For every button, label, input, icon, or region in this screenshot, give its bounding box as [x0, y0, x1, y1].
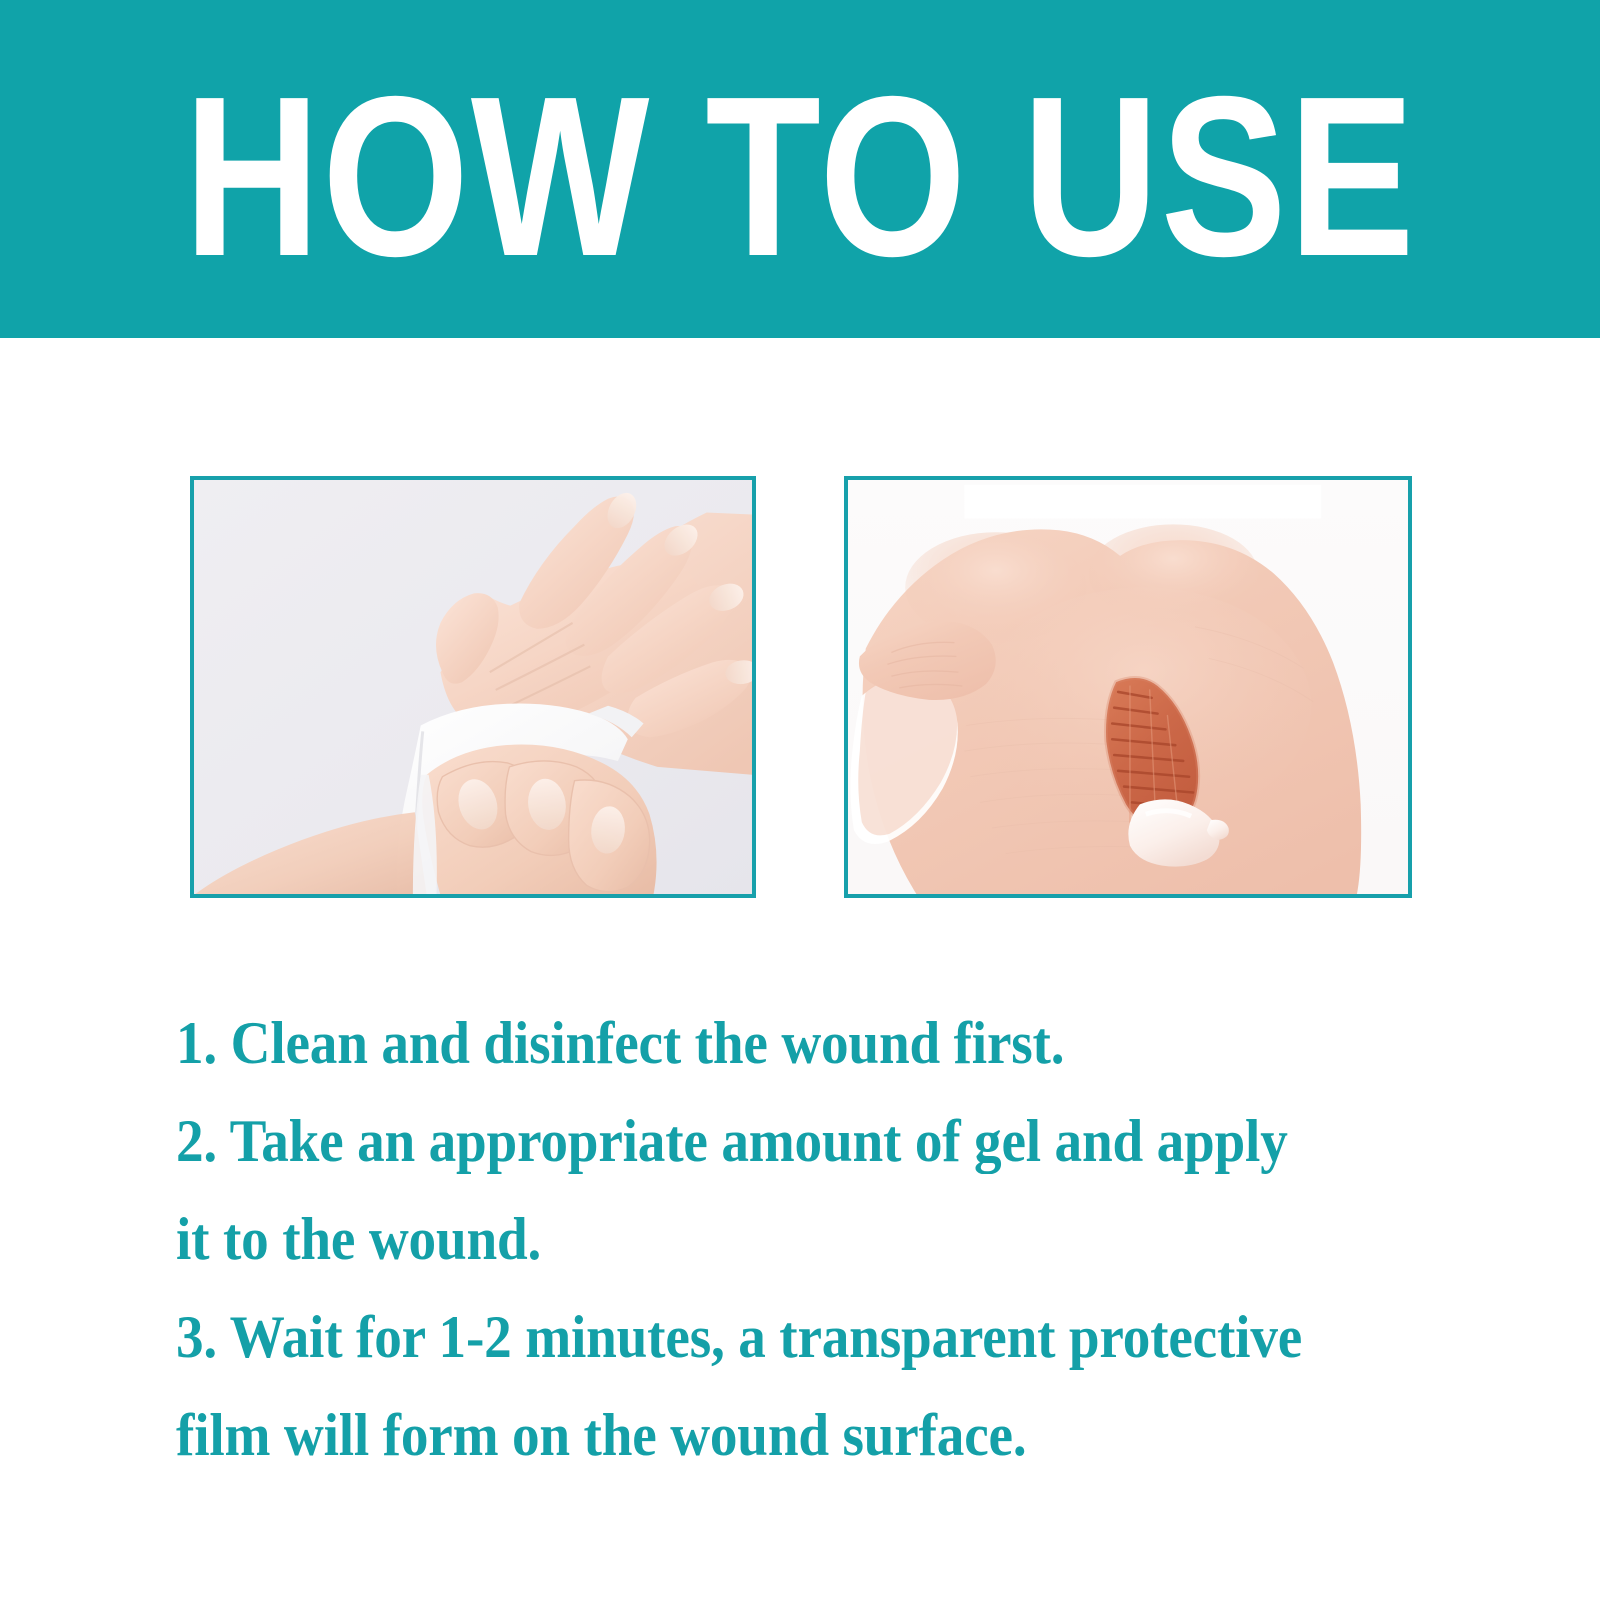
step-2-photo-panel — [844, 476, 1412, 898]
step-line-4: 3. Wait for 1-2 minutes, a transparent p… — [176, 1288, 1372, 1386]
step-line-1: 1. Clean and disinfect the wound first. — [176, 994, 1372, 1092]
step-line-3: it to the wound. — [176, 1190, 1372, 1288]
step-line-5: film will form on the wound surface. — [176, 1386, 1372, 1484]
step-line-2: 2. Take an appropriate amount of gel and… — [176, 1092, 1372, 1190]
instruction-steps: 1. Clean and disinfect the wound first. … — [176, 994, 1476, 1484]
wound-with-gel-photo — [848, 480, 1408, 894]
cleaning-hands-photo — [194, 480, 752, 894]
step-1-photo-panel — [190, 476, 756, 898]
